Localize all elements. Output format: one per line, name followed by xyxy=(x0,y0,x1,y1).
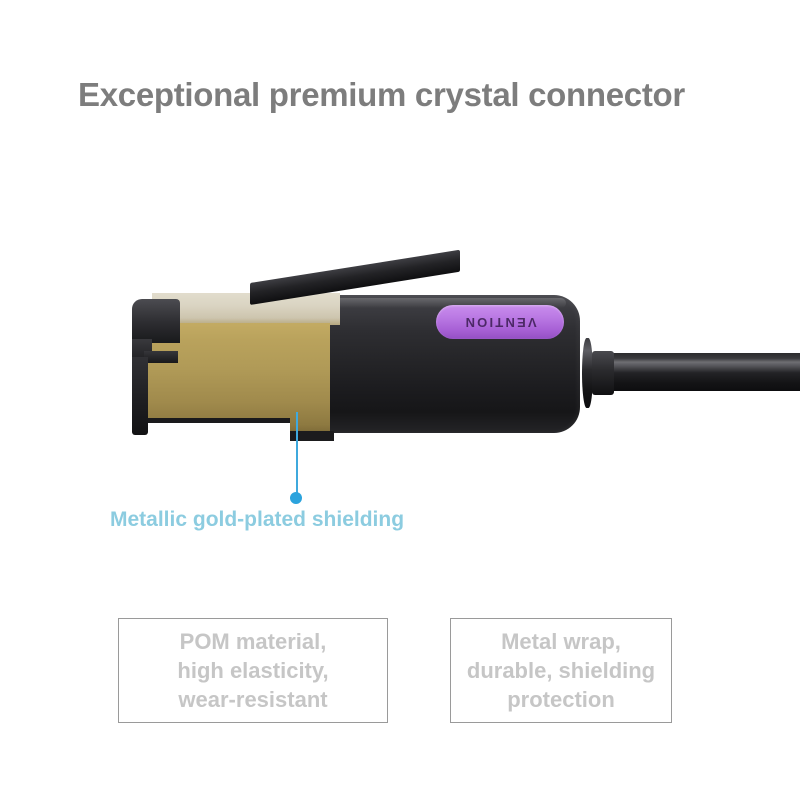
feature-text: Metal wrap, durable, shielding protectio… xyxy=(467,627,655,714)
brand-logo-text: VENTION xyxy=(436,305,564,339)
ethernet-cable xyxy=(596,353,800,391)
connector-nose xyxy=(132,299,180,433)
product-feature-page: Exceptional premium crystal connector xyxy=(0,0,800,800)
product-illustration: VENTION xyxy=(0,235,800,465)
nose-lip xyxy=(144,351,178,363)
nose-body xyxy=(132,357,148,435)
feature-box-pom-material: POM material, high elasticity, wear-resi… xyxy=(118,618,388,723)
callout-dot xyxy=(290,492,302,504)
feature-text: POM material, high elasticity, wear-resi… xyxy=(177,627,328,714)
latch-assembly: VENTION xyxy=(250,251,560,351)
callout-label-shielding: Metallic gold-plated shielding xyxy=(110,508,404,532)
callout-leader-line xyxy=(296,412,298,496)
latch-arm xyxy=(250,250,460,305)
feature-box-metal-wrap: Metal wrap, durable, shielding protectio… xyxy=(450,618,672,723)
page-title: Exceptional premium crystal connector xyxy=(78,76,758,114)
strain-relief-neck xyxy=(592,351,614,395)
nose-top-face xyxy=(132,299,180,343)
